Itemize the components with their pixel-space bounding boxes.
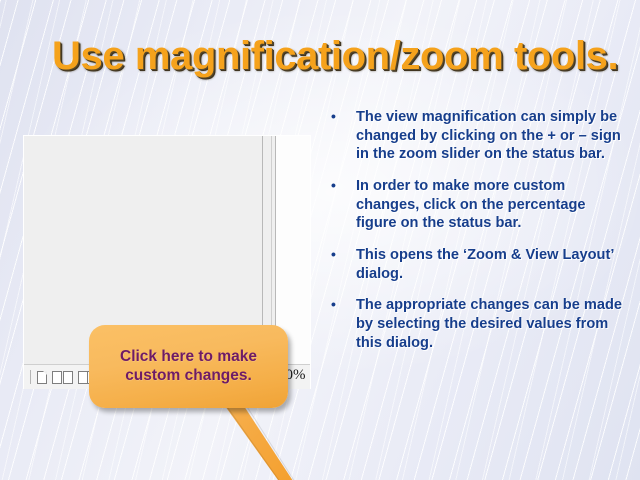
two-page-view-left-icon (52, 371, 62, 384)
view-mode-icons (37, 371, 95, 384)
bullet-marker-icon: • (331, 108, 336, 126)
two-page-view-right-icon (63, 371, 73, 384)
callout-balloon: Click here to make custom changes. (89, 325, 288, 408)
bullet-marker-icon: • (331, 246, 336, 264)
bullet-item: • The view magnification can simply be c… (326, 108, 622, 164)
bullet-item: • In order to make more custom changes, … (326, 177, 622, 233)
bullet-marker-icon: • (331, 296, 336, 314)
bullet-marker-icon: • (331, 177, 336, 195)
status-bar-separator (30, 370, 31, 384)
bullet-list: • The view magnification can simply be c… (326, 108, 622, 352)
single-page-view-icon[interactable] (37, 371, 47, 384)
bullet-text: This opens the ‘Zoom & View Layout’ dial… (356, 247, 614, 282)
callout-text: Click here to make custom changes. (89, 348, 288, 386)
embedded-screenshot: − + 110% Click here to make cus (24, 136, 310, 388)
page-title: Use magnification/zoom tools. (52, 34, 618, 79)
bullet-text: The appropriate changes can be made by s… (356, 297, 622, 350)
bullet-item: • The appropriate changes can be made by… (326, 296, 622, 352)
bullet-item: • This opens the ‘Zoom & View Layout’ di… (326, 246, 622, 283)
two-page-view-icon[interactable] (52, 371, 73, 384)
slide: Use magnification/zoom tools. • The view… (0, 0, 640, 480)
bullet-text: In order to make more custom changes, cl… (356, 178, 586, 231)
bullet-text: The view magnification can simply be cha… (356, 109, 621, 162)
